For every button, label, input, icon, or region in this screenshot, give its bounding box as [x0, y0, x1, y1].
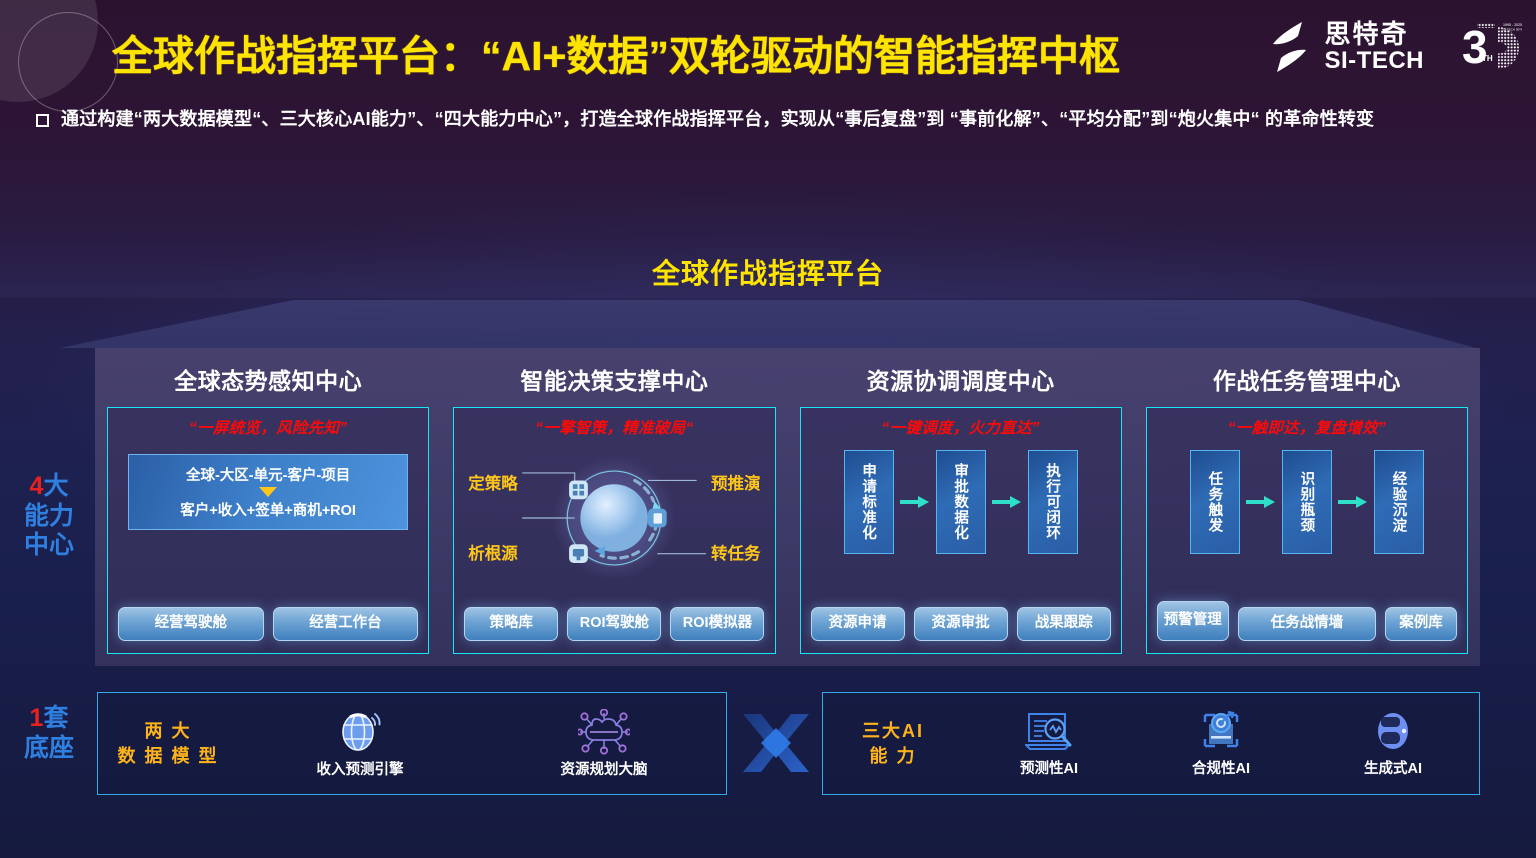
logo-en-text: SI-TECH	[1325, 49, 1425, 73]
foundation-item[interactable]: 合规性AI	[1135, 710, 1307, 778]
anniversary-years-text: 1995 - 2025	[1503, 23, 1522, 27]
foundation-left-title: 两 大 数 据 模 型	[98, 719, 238, 768]
decision-ring-diagram: 定策略 预推演 析根源 转任务	[464, 448, 764, 588]
foundation-right-title-line1: 三大AI	[823, 719, 963, 743]
page-title: 全球作战指挥平台：“AI+数据”双轮驱动的智能指挥中枢	[112, 22, 1120, 82]
scope-flow-block: 全球-大区-单元-客户-项目 客户+收入+签单+商机+ROI	[128, 454, 408, 530]
foundation-item-label: 合规性AI	[1192, 757, 1250, 778]
side-capability-line2: 能力	[14, 502, 84, 532]
process-step: 审批数据化	[936, 450, 986, 554]
foundation-item-label: 资源规划大脑	[561, 758, 648, 779]
foundation-item-label: 预测性AI	[1020, 757, 1078, 778]
brand-logo: 思特奇 SI-TECH 3 TH 1995 - 2025	[1271, 17, 1523, 77]
foundation-right-title: 三大AI 能 力	[823, 719, 963, 768]
foundation-item-label: 收入预测引擎	[317, 758, 404, 779]
center-pill-row: 策略库 ROI驾驶舱 ROI模拟器	[464, 607, 764, 641]
scope-flow-top: 全球-大区-单元-客户-项目	[186, 464, 350, 485]
subtitle-text: 通过构建“两大数据模型“、三大核心AI能力”、“四大能力中心”，打造全球作战指挥…	[61, 106, 1374, 134]
side-capability-unit: 大	[43, 472, 68, 500]
capability-center-4[interactable]: 作战任务管理中心 “一触即达，复盘增效” 任务触发 识别瓶颈 经验沉淀 预警管理…	[1134, 348, 1480, 666]
pill-button[interactable]: 资源申请	[811, 607, 905, 641]
center-pill-row: 经营驾驶舱 经营工作台	[118, 607, 418, 641]
process-steps: 申请标准化 审批数据化 执行可闭环	[811, 450, 1111, 554]
side-capability-num: 4	[30, 472, 44, 500]
platform-perspective-shape	[60, 300, 1476, 348]
pill-button[interactable]: 任务战情墙	[1238, 607, 1376, 641]
process-step: 执行可闭环	[1028, 450, 1078, 554]
globe-icon	[337, 709, 383, 755]
subtitle-block: 通过构建“两大数据模型“、三大核心AI能力”、“四大能力中心”，打造全球作战指挥…	[36, 106, 1516, 134]
foundation-item[interactable]: 预测性AI	[963, 710, 1135, 778]
process-step: 申请标准化	[844, 450, 894, 554]
pill-button[interactable]: ROI模拟器	[670, 607, 764, 641]
ring-label: 预推演	[711, 470, 761, 494]
arrow-right-icon	[900, 495, 930, 509]
arrow-right-icon	[1246, 495, 1276, 509]
pill-button[interactable]: 经营驾驶舱	[118, 607, 264, 641]
square-bullet-icon	[36, 114, 49, 127]
arrow-right-icon	[1338, 495, 1368, 509]
foundation-left-title-line1: 两 大	[98, 719, 238, 743]
pill-button[interactable]: 案例库	[1385, 607, 1457, 641]
pill-button[interactable]: 预警管理	[1157, 601, 1229, 641]
capability-centers-panel: 全球态势感知中心 “一屏统览，风险先知” 全球-大区-单元-客户-项目 客户+收…	[95, 348, 1480, 666]
foundation-item[interactable]: 收入预测引擎	[238, 709, 482, 779]
center-title: 全球态势感知中心	[107, 362, 429, 396]
center-slogan: “一键调度，火力直达”	[811, 416, 1111, 438]
brain-network-icon	[578, 709, 630, 755]
side-label-foundation: 1套 底座	[14, 704, 84, 763]
pill-button[interactable]: ROI驾驶舱	[567, 607, 661, 641]
foundation-right-title-line2: 能 力	[823, 744, 963, 768]
foundation-data-models: 两 大 数 据 模 型 收入预测引擎	[97, 692, 727, 795]
process-step: 经验沉淀	[1374, 450, 1424, 554]
anniversary-sub-text: SI-TECH 30TH ANNIVERSARY	[1503, 28, 1522, 32]
strategy-icon	[569, 480, 588, 499]
center-title: 智能决策支撑中心	[453, 362, 775, 396]
foundation-item-label: 生成式AI	[1364, 757, 1422, 778]
side-foundation-line2: 底座	[14, 734, 84, 764]
monitor-icon	[569, 544, 588, 563]
side-label-capability: 4大 能力 中心	[14, 472, 84, 561]
document-icon	[648, 509, 667, 528]
target-board-icon	[1197, 710, 1245, 754]
scope-flow-bottom: 客户+收入+签单+商机+ROI	[180, 499, 356, 520]
center-slogan: “一触即达，复盘增效”	[1157, 416, 1457, 438]
logo-cn-text: 思特奇	[1325, 21, 1425, 47]
process-step: 识别瓶颈	[1282, 450, 1332, 554]
side-foundation-unit: 套	[43, 704, 68, 732]
ring-label: 析根源	[468, 540, 518, 564]
center-title: 资源协调调度中心	[800, 362, 1122, 396]
anniversary-badge: 3 TH 1995 - 2025 SI-TECH 30TH ANNIVERSAR…	[1446, 17, 1522, 77]
svg-text:TH: TH	[1482, 54, 1493, 63]
pill-button[interactable]: 资源审批	[914, 607, 1008, 641]
x-mark-icon	[739, 706, 813, 780]
center-title: 作战任务管理中心	[1146, 362, 1468, 396]
ring-label: 定策略	[468, 470, 518, 494]
capability-center-1[interactable]: 全球态势感知中心 “一屏统览，风险先知” 全球-大区-单元-客户-项目 客户+收…	[95, 348, 441, 666]
foundation-item[interactable]: 资源规划大脑	[482, 709, 726, 779]
sitech-mark-icon	[1271, 20, 1311, 74]
center-slogan: “一屏统览，风险先知”	[118, 416, 418, 438]
chevron-down-icon	[259, 487, 277, 497]
side-foundation-num: 1	[30, 704, 44, 732]
foundation-left-title-line2: 数 据 模 型	[98, 744, 238, 768]
arrow-right-icon	[992, 495, 1022, 509]
robot-icon	[1369, 710, 1417, 754]
platform-title: 全球作战指挥平台	[0, 252, 1536, 292]
svg-text:3: 3	[1462, 21, 1488, 73]
center-pill-row: 资源申请 资源审批 战果跟踪	[811, 607, 1111, 641]
foundation-ai-capabilities: 三大AI 能 力 预测性AI 合规性AI	[822, 692, 1480, 795]
chart-magnifier-icon	[1025, 710, 1073, 754]
capability-center-2[interactable]: 智能决策支撑中心 “一擎智策，精准破局“	[441, 348, 787, 666]
pill-button[interactable]: 策略库	[464, 607, 558, 641]
side-capability-line3: 中心	[14, 531, 84, 561]
process-step: 任务触发	[1190, 450, 1240, 554]
pill-button[interactable]: 战果跟踪	[1017, 607, 1111, 641]
capability-center-3[interactable]: 资源协调调度中心 “一键调度，火力直达” 申请标准化 审批数据化 执行可闭环 资…	[788, 348, 1134, 666]
pill-button[interactable]: 经营工作台	[273, 607, 419, 641]
foundation-item[interactable]: 生成式AI	[1307, 710, 1479, 778]
ring-label: 转任务	[711, 540, 761, 564]
center-slogan: “一擎智策，精准破局“	[464, 416, 764, 438]
process-steps: 任务触发 识别瓶颈 经验沉淀	[1157, 450, 1457, 554]
header: 全球作战指挥平台：“AI+数据”双轮驱动的智能指挥中枢 思特奇 SI-TECH	[0, 0, 1536, 100]
center-pill-row: 预警管理 任务战情墙 案例库	[1157, 601, 1457, 641]
